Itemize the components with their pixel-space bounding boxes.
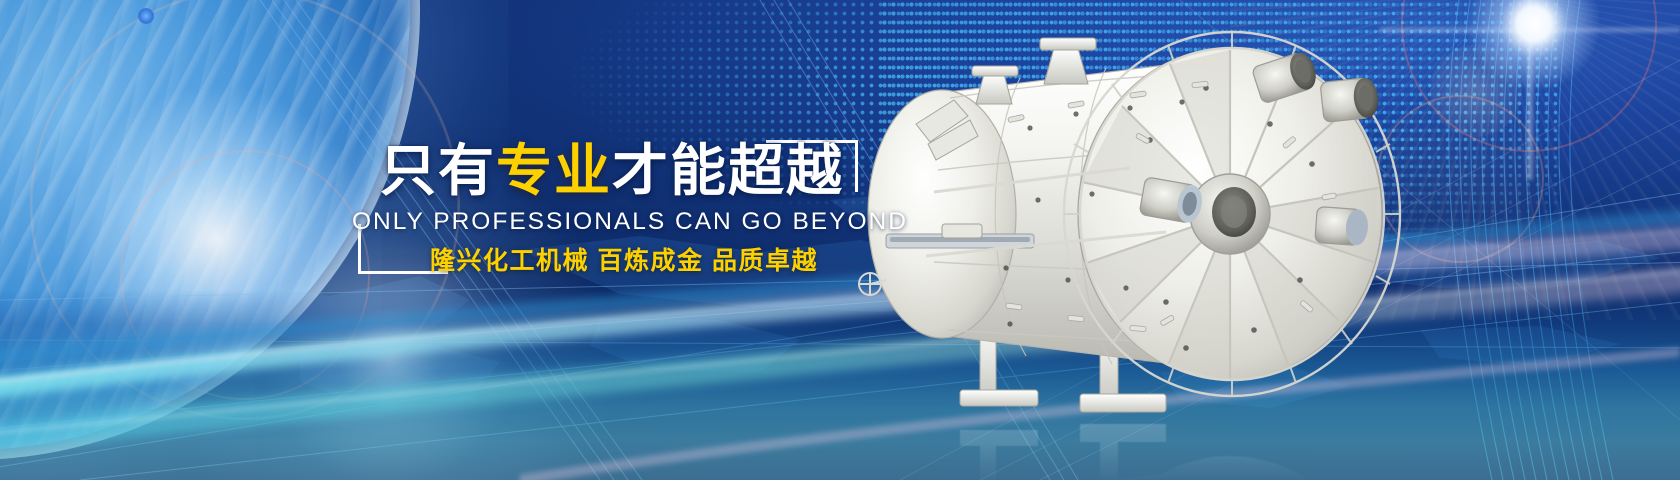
small-blue-orb [138, 8, 154, 24]
product-image-pressure-vessel [830, 18, 1410, 418]
headline-block: 只有专业才能超越 ONLY PROFESSIONALS CAN GO BEYON… [352, 128, 872, 288]
headline-tail: 才能超越 [612, 139, 844, 202]
hero-banner: 只有专业才能超越 ONLY PROFESSIONALS CAN GO BEYON… [0, 0, 1680, 480]
headline-lead: 只有 [380, 139, 496, 202]
subtitle-chinese: 隆兴化工机械 百炼成金 品质卓越 [364, 246, 884, 276]
headline-highlight: 专业 [496, 139, 612, 202]
headline: 只有专业才能超越 [352, 140, 872, 202]
product-reflection [830, 418, 1410, 480]
subtitle-english: ONLY PROFESSIONALS CAN GO BEYOND [352, 208, 872, 236]
